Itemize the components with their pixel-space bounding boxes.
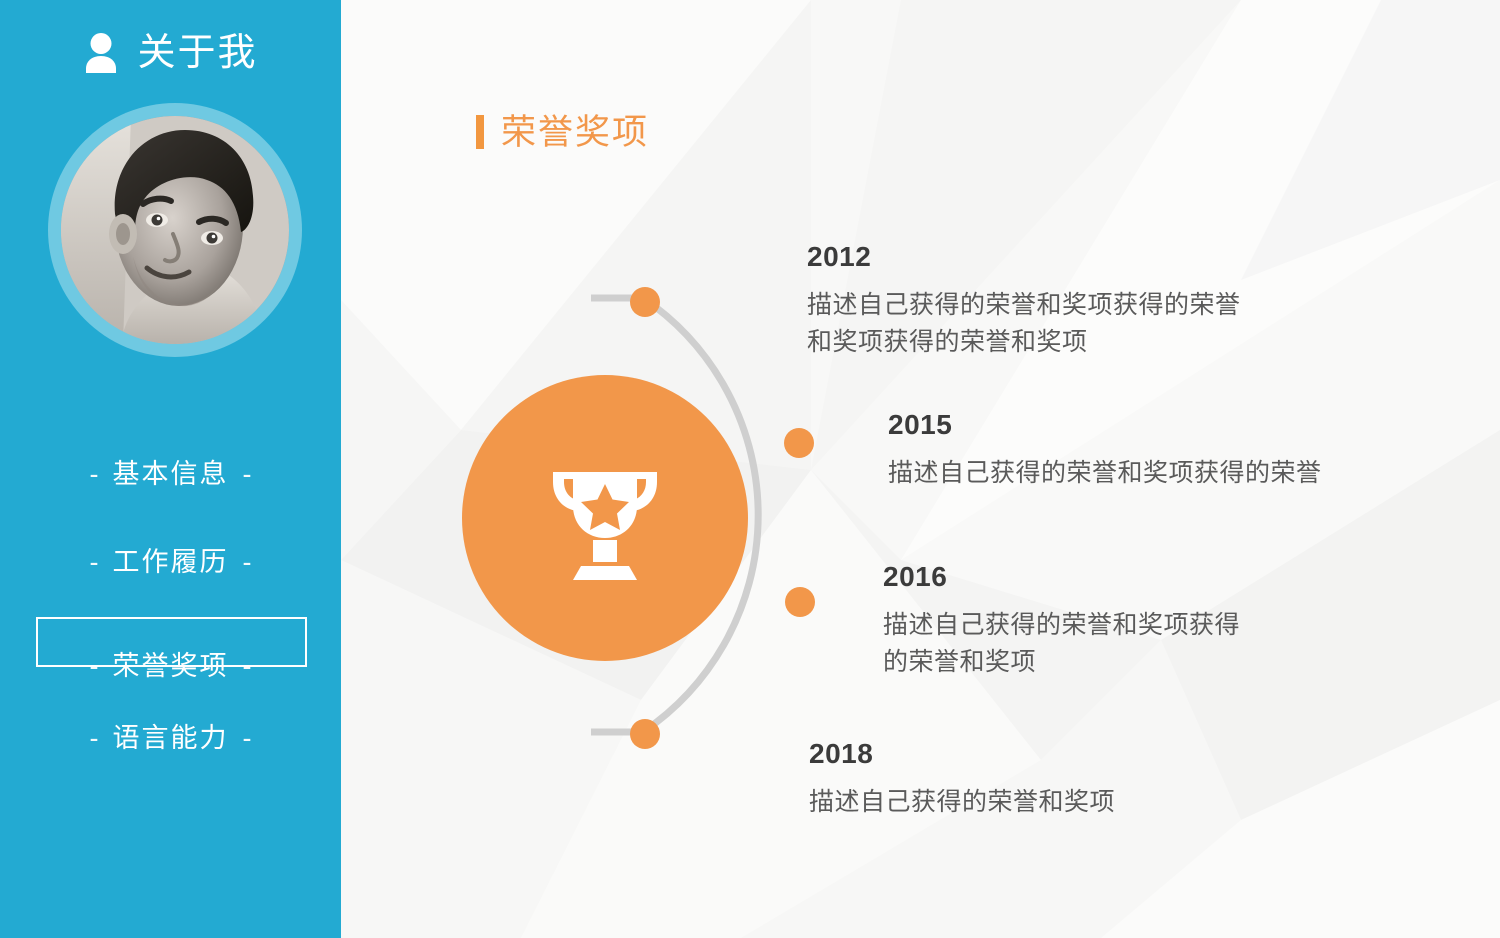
timeline-entry-2018: 2018 描述自己获得的荣誉和奖项 (809, 740, 1115, 821)
timeline-entry-2012: 2012 描述自己获得的荣誉和奖项获得的荣誉 和奖项获得的荣誉和奖项 (807, 243, 1241, 360)
nav-dash-left: - (90, 653, 99, 680)
entry-line: 和奖项获得的荣誉和奖项 (807, 324, 1241, 361)
entry-line: 描述自己获得的荣誉和奖项获得的荣誉 (807, 287, 1241, 324)
sidebar-nav: - 基本信息 - - 工作履历 - - 荣誉奖项 - - 语言能力 (0, 430, 341, 782)
timeline-dot-2016 (785, 587, 815, 617)
timeline-dot-2018 (630, 719, 660, 749)
sidebar-item-honors-awards[interactable]: - 荣誉奖项 - (0, 606, 341, 694)
timeline-entry-2016: 2016 描述自己获得的荣誉和奖项获得 的荣誉和奖项 (883, 563, 1240, 680)
timeline-dot-2015 (784, 428, 814, 458)
sidebar-item-content: - 荣誉奖项 - (90, 653, 252, 680)
trophy-icon (537, 450, 673, 586)
entry-line: 的荣誉和奖项 (883, 644, 1240, 681)
sidebar-header: 关于我 (0, 18, 341, 88)
nav-dash-left: - (90, 461, 99, 488)
main-content: 荣誉奖项 2012 描述自己获得的荣誉和奖项获得的荣誉 和奖项获 (341, 0, 1500, 938)
avatar-photo-icon (61, 116, 289, 344)
sidebar-item-label: 荣誉奖项 (113, 653, 229, 680)
avatar (61, 116, 289, 344)
nav-dash-left: - (90, 549, 99, 576)
trophy-badge (462, 375, 748, 661)
sidebar-title: 关于我 (137, 34, 257, 72)
sidebar-item-label: 工作履历 (113, 549, 229, 576)
timeline-entry-2015: 2015 描述自己获得的荣誉和奖项获得的荣誉 (888, 411, 1322, 492)
sidebar-item-language-skills[interactable]: - 语言能力 - (0, 694, 341, 782)
timeline-dot-2012 (630, 287, 660, 317)
sidebar: 关于我 (0, 0, 341, 938)
entry-year: 2018 (809, 740, 1115, 768)
sidebar-item-work-history[interactable]: - 工作履历 - (0, 518, 341, 606)
entry-year: 2015 (888, 411, 1322, 439)
entry-line: 描述自己获得的荣誉和奖项获得 (883, 607, 1240, 644)
nav-dash-left: - (90, 725, 99, 752)
sidebar-item-basic-info[interactable]: - 基本信息 - (0, 430, 341, 518)
entry-year: 2016 (883, 563, 1240, 591)
sidebar-item-label: 基本信息 (113, 461, 229, 488)
resume-slide: 关于我 (0, 0, 1500, 938)
entry-line: 描述自己获得的荣誉和奖项获得的荣誉 (888, 455, 1322, 492)
nav-dash-right: - (243, 549, 252, 576)
entry-year: 2012 (807, 243, 1241, 271)
nav-dash-right: - (243, 653, 252, 680)
person-icon (83, 31, 119, 75)
nav-dash-right: - (243, 725, 252, 752)
entry-line: 描述自己获得的荣誉和奖项 (809, 784, 1115, 821)
sidebar-item-label: 语言能力 (113, 725, 229, 752)
nav-dash-right: - (243, 461, 252, 488)
avatar-ring (48, 103, 302, 357)
